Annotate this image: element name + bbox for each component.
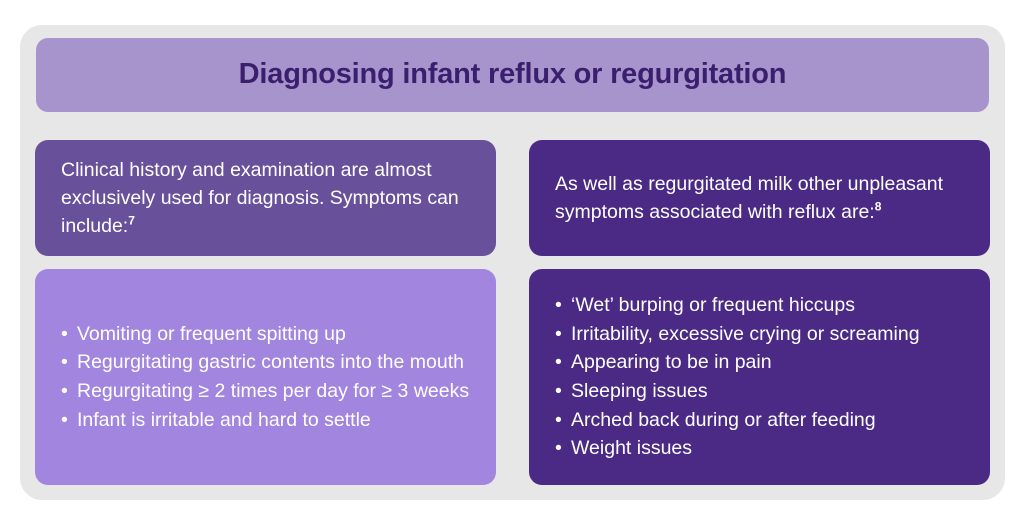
list-item-label: Weight issues xyxy=(571,437,692,459)
bullet-icon: • xyxy=(61,377,77,406)
bullet-icon: • xyxy=(61,348,77,377)
bullet-icon: • xyxy=(61,406,77,435)
bullet-icon: • xyxy=(555,377,571,406)
list-item: •Vomiting or frequent spitting up xyxy=(61,320,474,349)
intro-card-left-text: Clinical history and examination are alm… xyxy=(61,156,474,241)
intro-card-right-text: As well as regurgitated milk other unple… xyxy=(555,170,968,227)
page-title: Diagnosing infant reflux or regurgitatio… xyxy=(239,59,787,91)
bullet-icon: • xyxy=(555,320,571,349)
list-item: •‘Wet’ burping or frequent hiccups xyxy=(555,291,968,320)
bullet-icon: • xyxy=(61,320,77,349)
intro-card-right-reference: 8 xyxy=(875,200,882,214)
intro-card-left-body: Clinical history and examination are alm… xyxy=(61,159,459,238)
intro-card-left-reference: 7 xyxy=(128,214,135,228)
intro-card-left: Clinical history and examination are alm… xyxy=(35,140,496,256)
list-item-label: Regurgitating ≥ 2 times per day for ≥ 3 … xyxy=(77,380,469,402)
intro-card-right: As well as regurgitated milk other unple… xyxy=(529,140,990,256)
symptom-list-card-left: •Vomiting or frequent spitting up •Regur… xyxy=(35,269,496,485)
symptom-list-right: •‘Wet’ burping or frequent hiccups •Irri… xyxy=(555,291,968,463)
list-item-label: Irritability, excessive crying or scream… xyxy=(571,323,920,345)
list-item-label: Vomiting or frequent spitting up xyxy=(77,323,346,345)
column-other-symptoms: As well as regurgitated milk other unple… xyxy=(529,140,990,485)
list-item-label: Appearing to be in pain xyxy=(571,351,772,373)
list-item: •Infant is irritable and hard to settle xyxy=(61,406,474,435)
bullet-icon: • xyxy=(555,291,571,320)
column-diagnosis-symptoms: Clinical history and examination are alm… xyxy=(35,140,496,485)
symptom-list-card-right: •‘Wet’ burping or frequent hiccups •Irri… xyxy=(529,269,990,485)
bullet-icon: • xyxy=(555,348,571,377)
content-columns: Clinical history and examination are alm… xyxy=(35,140,990,485)
list-item-label: Infant is irritable and hard to settle xyxy=(77,409,371,431)
list-item: •Irritability, excessive crying or screa… xyxy=(555,320,968,349)
list-item-label: Regurgitating gastric contents into the … xyxy=(77,351,464,373)
list-item: •Weight issues xyxy=(555,434,968,463)
list-item: •Appearing to be in pain xyxy=(555,348,968,377)
list-item: •Regurgitating ≥ 2 times per day for ≥ 3… xyxy=(61,377,474,406)
list-item: •Regurgitating gastric contents into the… xyxy=(61,348,474,377)
infographic-panel: Diagnosing infant reflux or regurgitatio… xyxy=(20,25,1005,500)
list-item: •Arched back during or after feeding xyxy=(555,406,968,435)
symptom-list-left: •Vomiting or frequent spitting up •Regur… xyxy=(61,320,474,435)
bullet-icon: • xyxy=(555,434,571,463)
bullet-icon: • xyxy=(555,406,571,435)
list-item-label: ‘Wet’ burping or frequent hiccups xyxy=(571,294,855,316)
list-item: •Sleeping issues xyxy=(555,377,968,406)
list-item-label: Sleeping issues xyxy=(571,380,708,402)
title-banner: Diagnosing infant reflux or regurgitatio… xyxy=(36,38,989,112)
intro-card-right-body: As well as regurgitated milk other unple… xyxy=(555,173,943,223)
list-item-label: Arched back during or after feeding xyxy=(571,409,876,431)
